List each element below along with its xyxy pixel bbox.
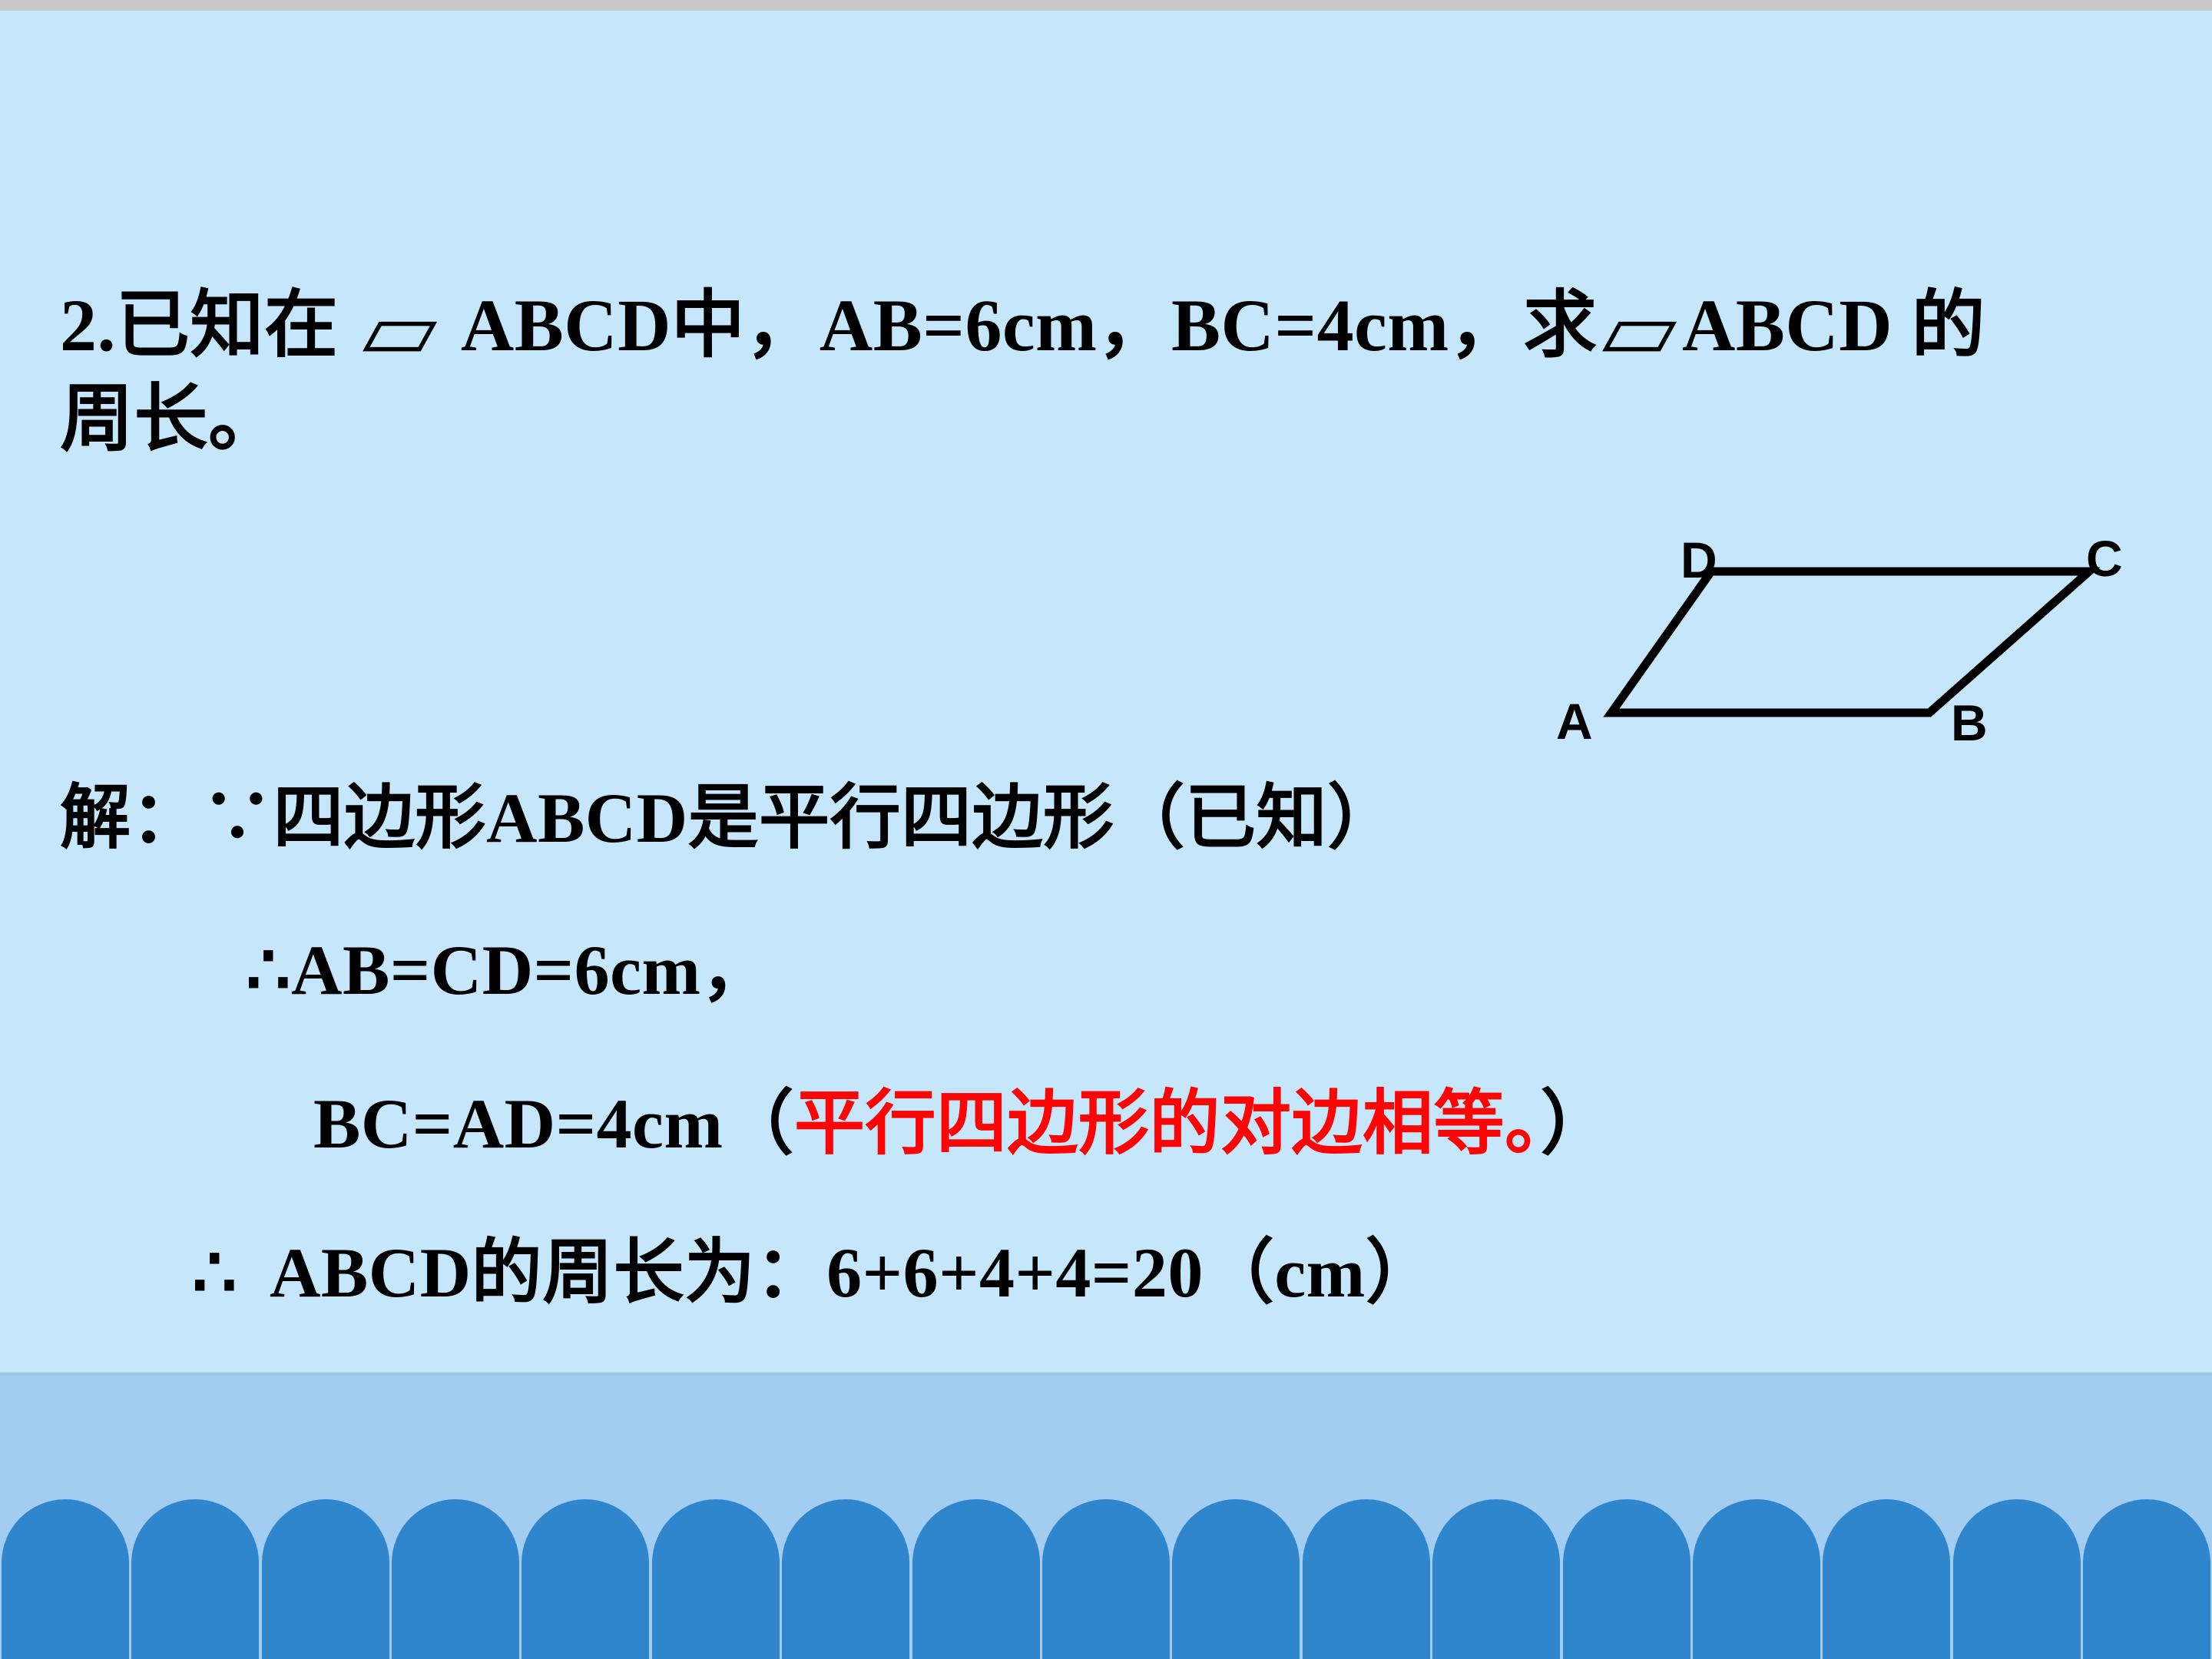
arch-front (652, 1580, 780, 1659)
solution-line3-red-reason: 平行四边形的对边相等。 (794, 1084, 1541, 1163)
solution-line-1: 解：∵四边形ABCD是平行四边形（已知） (60, 779, 1399, 858)
solution-line-3: BC=AD=4cm（平行四边形的对边相等。） (313, 1084, 1611, 1164)
arch-front (1172, 1580, 1300, 1659)
parallelogram-figure: A B C D (1551, 527, 2135, 757)
arch-front (262, 1580, 389, 1659)
slide-canvas: 2.已知在 ABCD中，AB=6cm，BC=4cm，求ABCD 的 周长。 A … (0, 0, 2212, 1659)
solution-line-2: ∴AB=CD=6cm， (246, 931, 772, 1010)
band-hairline (0, 1373, 2212, 1376)
arch-front (1042, 1580, 1170, 1659)
arch-front (912, 1580, 1040, 1659)
arch-front (131, 1580, 259, 1659)
solution-line3-black-end: ） (1541, 1084, 1612, 1163)
question-line1-segment-1: 2.已知在 (60, 284, 357, 366)
parallelogram-glyph-icon-2 (1604, 321, 1674, 352)
arch-front (2083, 1580, 2210, 1659)
arch-front (1823, 1580, 1950, 1659)
question-line-2: 周长。 (60, 378, 283, 461)
arch-front (1693, 1580, 1820, 1659)
parallelogram-glyph-icon (365, 321, 435, 352)
bottom-decoration-band (0, 1373, 2212, 1659)
vertex-label-c: C (2086, 533, 2123, 584)
question-line1-segment-2: ABCD中，AB=6cm，BC=4cm，求 (442, 284, 1597, 366)
arch-front (392, 1580, 519, 1659)
solution-line-4: ∴ ABCD的周长为：6+6+4+4=20（cm） (192, 1233, 1436, 1313)
question-line1-segment-3: ABCD 的 (1682, 284, 1985, 366)
arch-row-front (0, 1580, 2212, 1659)
arch-front (782, 1580, 909, 1659)
slide-content-area: 2.已知在 ABCD中，AB=6cm，BC=4cm，求ABCD 的 周长。 A … (0, 11, 2212, 1373)
solution-line3-black-start: BC=AD=4cm（ (313, 1084, 794, 1163)
arch-front (2, 1580, 129, 1659)
arch-front (522, 1580, 649, 1659)
arch-front (1563, 1580, 1690, 1659)
arch-front (1303, 1580, 1430, 1659)
question-line-1: 2.已知在 ABCD中，AB=6cm，BC=4cm，求ABCD 的 (60, 284, 1985, 367)
vertex-label-d: D (1681, 535, 1717, 585)
vertex-label-b: B (1951, 697, 1988, 748)
vertex-label-a: A (1556, 696, 1593, 747)
top-grey-strip (0, 0, 2212, 11)
arch-front (1953, 1580, 2081, 1659)
arch-front (1432, 1580, 1560, 1659)
